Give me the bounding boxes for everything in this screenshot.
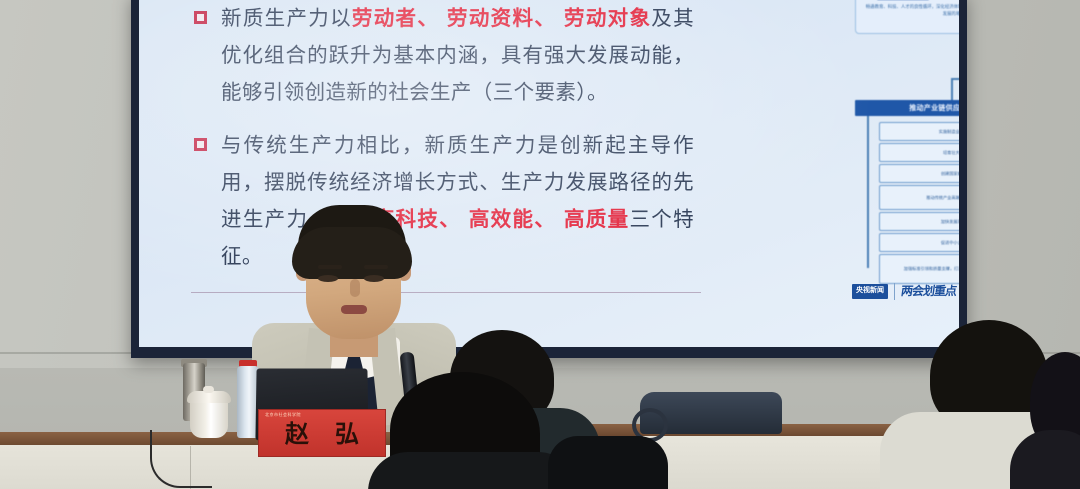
logo-divider — [894, 283, 895, 300]
program-title: 两会划重点 — [900, 286, 957, 297]
speaker-brow-right — [364, 265, 388, 269]
mindmap-col1-header: 推动产业链供应链优化升级 — [855, 100, 959, 116]
cctv-news-logo: 央视新闻 — [852, 284, 888, 299]
mindmap-col1-item: 实施制造业技术改造升级工程 — [879, 122, 959, 141]
seg-space — [556, 6, 564, 30]
nameplate-name: 赵 弘 — [259, 419, 385, 449]
seg-highlight: 高效能、 — [469, 207, 556, 231]
mindmap-graphic: 科技 人才 畅通教育、科技、人才的良性循环，深化经济体制、科技体制等改革，着力打… — [845, 0, 959, 302]
mindmap-connector — [951, 78, 953, 100]
bullet-square-icon — [194, 138, 207, 151]
mindmap-col1-item: 培育壮大先进制造业集群 — [879, 143, 959, 162]
mindmap-col1-item: 加快发展现代生产性服务业 — [879, 212, 959, 231]
ceramic-cup — [190, 398, 228, 438]
mindmap-col1-spine — [867, 116, 869, 268]
seg-plain: 新质生产力以 — [221, 6, 352, 30]
speaker-mouth — [341, 305, 367, 314]
bullet-square-icon — [194, 11, 207, 24]
audience-shoulders — [368, 452, 578, 489]
seg-highlight: 高质量 — [564, 207, 629, 231]
speaker-nose — [350, 279, 360, 297]
audience-shoulders — [548, 436, 668, 489]
seg-space — [556, 207, 564, 231]
mindmap-col1-item: 创建国家新型工业化示范区 — [879, 164, 959, 183]
cup-lid-knob — [203, 386, 214, 393]
slide-bullet-1-text: 新质生产力以劳动者、 劳动资料、 劳动对象及其优化组合的跃升为基本内涵，具有强大… — [221, 0, 694, 111]
nameplate: 北京市社会科学院 赵 弘 — [258, 409, 386, 457]
seg-highlight: 劳动资料、 — [447, 6, 556, 30]
mindmap-col1-item: 加强标准引领和质量支撑，打造更多有国际影响力的"中国制造"品牌 — [879, 254, 959, 284]
mindmap-top-caption: 畅通教育、科技、人才的良性循环，深化经济体制、科技体制等改革，着力打通束缚新质生… — [865, 4, 959, 17]
mindmap-col1-item: 促进中小企业专精特新发展 — [879, 233, 959, 252]
slide-bullet-1: 新质生产力以劳动者、 劳动资料、 劳动对象及其优化组合的跃升为基本内涵，具有强大… — [194, 0, 694, 111]
power-cable — [150, 430, 212, 488]
nameplate-char-2: 弘 — [335, 419, 359, 449]
seg-highlight: 劳动者、 — [352, 6, 439, 30]
speaker-eye-right — [364, 275, 384, 282]
screenshot-root: 新质生产力以劳动者、 劳动资料、 劳动对象及其优化组合的跃升为基本内涵，具有强大… — [0, 0, 1080, 489]
speaker-brow-left — [318, 265, 342, 269]
nameplate-char-1: 赵 — [285, 419, 309, 449]
speaker-hair-front — [292, 227, 412, 279]
broadcast-logo: 央视新闻 两会划重点 — [852, 283, 956, 300]
speaker-eye-left — [318, 275, 338, 282]
mindmap-col1-item: 推动传统产业高端化、智能化、绿色化转型 — [879, 185, 959, 210]
seg-space — [461, 207, 469, 231]
seg-space — [439, 6, 447, 30]
nameplate-subtitle: 北京市社会科学院 — [265, 412, 301, 418]
seg-highlight: 劳动对象 — [564, 6, 651, 30]
